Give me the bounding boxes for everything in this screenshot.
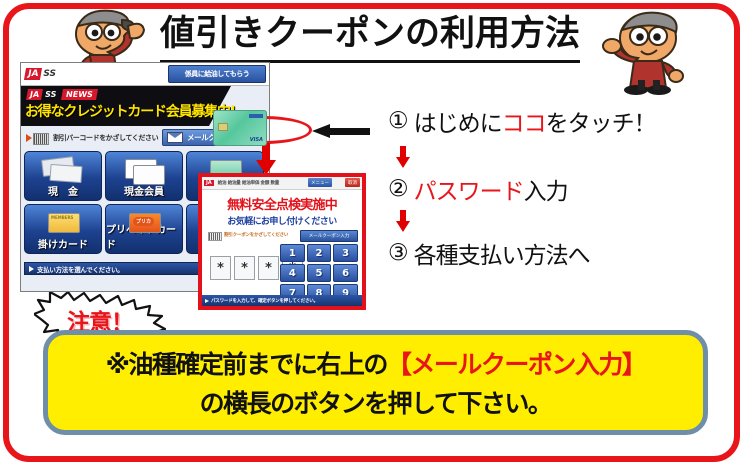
password-screen-barcode-row: 割引クーポンをかざしてください メールクーポン入力 <box>202 230 362 242</box>
password-screen-logo: JA <box>204 180 214 186</box>
password-screen-barcode-note: 割引クーポンをかざしてください <box>224 232 288 238</box>
step-instructions: ① はじめに ココ をタッチ！ ② パスワード 入力 ③ 各種支払い方法へ <box>388 104 718 270</box>
step-arrow-1-icon <box>396 146 410 168</box>
card-chip <box>218 123 228 131</box>
step-2-highlight: パスワード <box>414 172 524 206</box>
kiosk-topbar: JA SS 係員に給油してもらう <box>21 63 269 86</box>
jass-logo-ja: JA <box>24 68 42 80</box>
step-1-post: をタッチ！ <box>546 104 656 138</box>
password-screen-status-bar: パスワードを入力して、確定ボタンを押してください。 <box>202 295 362 306</box>
password-digit: * <box>234 256 255 280</box>
payment-tile-cash[interactable]: 現 金 <box>24 151 102 201</box>
kiosk-news-banner: JA SS NEWS お得なクレジットカード会員募集中! VISA <box>21 86 269 126</box>
page-title: 値引きクーポンの利用方法 <box>160 12 580 63</box>
pointer-arrow-left-icon <box>312 124 370 138</box>
staff-refuel-button[interactable]: 係員に給油してもらう <box>168 65 266 83</box>
status-triangle-icon <box>29 266 34 272</box>
prepaid-card-art-icon: プリカ <box>121 210 167 236</box>
jass-logo: JA SS <box>25 67 56 81</box>
credit-card-image: VISA <box>213 110 267 146</box>
password-digit: * <box>258 256 279 280</box>
payment-tile-cash-member[interactable]: 現金会員 <box>105 151 183 201</box>
payment-tile-prepaid-card[interactable]: プリカ プリペイドカード <box>105 204 183 254</box>
flow-arrow-down-icon <box>256 143 276 175</box>
password-screen-subheadline: お気軽にお申し付けください <box>202 214 362 227</box>
notice-line-1: ※油種確定前までに右上の【メールクーポン入力】 <box>106 345 646 381</box>
step-1-pre: はじめに <box>414 104 502 138</box>
keypad-key-5[interactable]: 5 <box>307 264 332 282</box>
keypad-key-2[interactable]: 2 <box>307 244 332 262</box>
news-label: NEWS <box>61 89 98 100</box>
poster-root: 値引きクーポンの利用方法 JA SS 係員に給油してもらう JA SS NEWS… <box>0 0 750 472</box>
kake-card-art-icon: MEMBERS <box>40 210 86 236</box>
password-screen-headline: 無料安全点検実施中 <box>202 194 362 213</box>
payment-tile-kake-card[interactable]: MEMBERS 掛けカード <box>24 204 102 254</box>
step-2-post: 入力 <box>524 172 568 206</box>
password-screen-side-button[interactable]: メールクーポン入力 <box>300 230 358 242</box>
barcode-icon <box>26 132 48 144</box>
cash-member-art-icon <box>121 157 167 183</box>
step-3-number: ③ <box>388 240 408 266</box>
password-screen-topbar: JA 給油 給油量 給油単価 金額 数量 メニュー 取消 <box>202 177 362 190</box>
payment-tile-label: 現金会員 <box>124 183 164 198</box>
step-1-highlight: ココ <box>502 104 546 138</box>
notice-line-1-highlight: 【メールクーポン入力】 <box>387 350 646 379</box>
mascot-right-icon <box>596 6 696 98</box>
step-3-pre: 各種支払い方法へ <box>414 236 590 270</box>
step-2-number: ② <box>388 176 408 202</box>
password-screen-cancel-button[interactable]: 取消 <box>345 178 360 187</box>
news-headline: お得なクレジットカード会員募集中! <box>25 101 235 121</box>
step-1: ① はじめに ココ をタッチ！ <box>388 104 718 138</box>
password-screen-menu-items: 給油 給油量 給油単価 金額 数量 <box>218 180 279 186</box>
step-1-number: ① <box>388 108 408 134</box>
step-arrow-2-icon <box>396 210 410 232</box>
notice-box: ※油種確定前までに右上の【メールクーポン入力】 の横長のボタンを押して下さい。 <box>43 330 708 435</box>
news-logo-ja: JA <box>26 89 43 100</box>
notice-line-2: の横長のボタンを押して下さい。 <box>200 384 552 420</box>
news-logo-ss: SS <box>45 90 56 99</box>
barcode-instruction: 割引バーコードをかざしてください <box>53 133 158 143</box>
kiosk-status-text: 支払い方法を選んでください。 <box>37 264 123 274</box>
step-3: ③ 各種支払い方法へ <box>388 236 718 270</box>
cash-art-icon <box>40 157 86 183</box>
payment-tile-label: 掛けカード <box>38 236 88 251</box>
envelope-icon <box>167 132 183 143</box>
notice-line-1-pre: ※油種確定前までに右上の <box>106 350 387 379</box>
step-2: ② パスワード 入力 <box>388 172 718 206</box>
password-entry-screenshot: JA 給油 給油量 給油単価 金額 数量 メニュー 取消 無料安全点検実施中 お… <box>198 173 366 310</box>
jass-logo-ss: SS <box>43 69 56 79</box>
card-brand: VISA <box>250 137 263 143</box>
status-triangle-icon <box>205 299 209 303</box>
card-stripe <box>249 114 263 118</box>
keypad-key-6[interactable]: 6 <box>333 264 358 282</box>
keypad-key-1[interactable]: 1 <box>280 244 305 262</box>
keypad-key-3[interactable]: 3 <box>333 244 358 262</box>
password-screen-menu-button[interactable]: メニュー <box>308 178 332 187</box>
payment-tile-label: 現 金 <box>48 183 78 198</box>
password-digit: * <box>210 256 231 280</box>
barcode-icon <box>208 232 222 241</box>
password-screen-status-text: パスワードを入力して、確定ボタンを押してください。 <box>211 298 318 304</box>
news-tag: JA SS NEWS <box>27 89 97 100</box>
keypad-key-4[interactable]: 4 <box>280 264 305 282</box>
